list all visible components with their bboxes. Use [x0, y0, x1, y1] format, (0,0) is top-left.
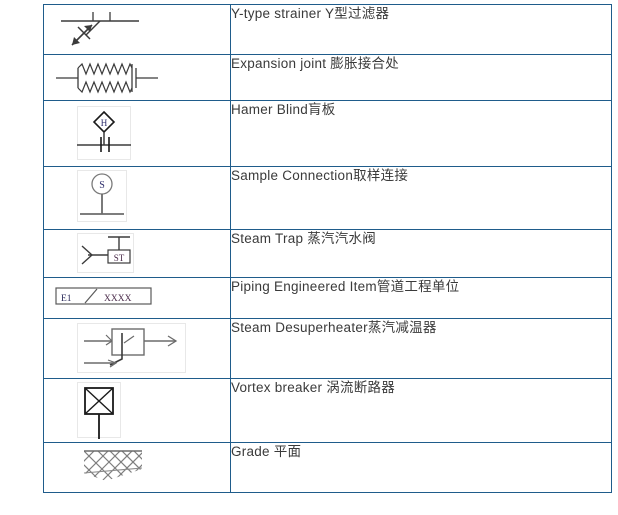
label-cell-steam-desuperheater: Steam Desuperheater蒸汽减温器	[231, 319, 612, 379]
hamer-blind-letter: H	[101, 118, 108, 128]
symbol-cell-piping-engineered-item: E1 XXXX	[44, 278, 231, 319]
table-row: Grade 平面	[44, 443, 612, 493]
vortex-breaker-icon	[44, 379, 230, 441]
label-cell-sample-connection: Sample Connection取样连接	[231, 167, 612, 230]
symbol-cell-expansion-joint	[44, 55, 231, 101]
label-cell-hamer-blind: Hamer Blind肓板	[231, 101, 612, 167]
label-cell-expansion-joint: Expansion joint 膨胀接合处	[231, 55, 612, 101]
symbol-cell-steam-trap: ST	[44, 230, 231, 278]
table-row: Vortex breaker 涡流断路器	[44, 379, 612, 443]
table-row: Steam Desuperheater蒸汽减温器	[44, 319, 612, 379]
label-cell-piping-engineered-item: Piping Engineered Item管道工程单位	[231, 278, 612, 319]
sample-connection-icon: S	[44, 167, 230, 228]
table-row: H Hamer Blind肓板	[44, 101, 612, 167]
table-row: Y-type strainer Y型过滤器	[44, 5, 612, 55]
symbol-cell-vortex-breaker	[44, 379, 231, 443]
hamer-blind-icon: H	[44, 101, 230, 165]
expansion-joint-icon	[44, 55, 230, 99]
symbol-cell-sample-connection: S	[44, 167, 231, 230]
symbol-cell-y-type-strainer	[44, 5, 231, 55]
steam-desuperheater-icon	[44, 319, 230, 377]
symbol-canvas	[44, 443, 230, 491]
piping-engineered-item-icon: E1 XXXX	[44, 278, 230, 317]
sample-connection-letter: S	[99, 180, 105, 191]
table-row: Expansion joint 膨胀接合处	[44, 55, 612, 101]
y-type-strainer-icon	[44, 5, 230, 53]
symbol-cell-steam-desuperheater	[44, 319, 231, 379]
steam-trap-letters: ST	[114, 253, 125, 263]
piping-item-number: XXXX	[104, 294, 132, 304]
label-cell-grade: Grade 平面	[231, 443, 612, 493]
label-cell-y-type-strainer: Y-type strainer Y型过滤器	[231, 5, 612, 55]
label-cell-vortex-breaker: Vortex breaker 涡流断路器	[231, 379, 612, 443]
label-cell-steam-trap: Steam Trap 蒸汽汽水阀	[231, 230, 612, 278]
symbol-legend-table: Y-type strainer Y型过滤器 Expansion	[43, 4, 612, 493]
symbol-canvas	[44, 55, 230, 99]
steam-trap-icon: ST	[44, 230, 230, 276]
table-body: Y-type strainer Y型过滤器 Expansion	[44, 5, 612, 493]
symbol-canvas: E1 XXXX	[44, 278, 230, 317]
symbol-canvas	[44, 5, 230, 53]
table-row: E1 XXXX Piping Engineered Item管道工程单位	[44, 278, 612, 319]
table-row: S Sample Connection取样连接	[44, 167, 612, 230]
grade-icon	[44, 443, 230, 491]
piping-item-prefix: E1	[61, 294, 72, 304]
symbol-cell-grade	[44, 443, 231, 493]
symbol-cell-hamer-blind: H	[44, 101, 231, 167]
table-row: ST Steam Trap 蒸汽汽水阀	[44, 230, 612, 278]
